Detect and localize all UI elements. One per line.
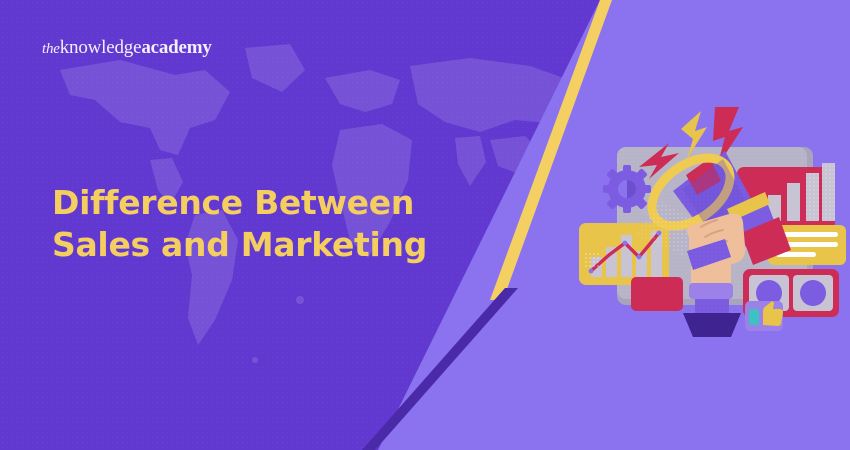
sales-and-marketing-illustration	[565, 105, 840, 340]
banner-canvas: theknowledgeacademy Difference Between S…	[0, 0, 850, 450]
gear-icon	[603, 165, 651, 213]
logo-prefix: the	[42, 41, 60, 57]
thumbs-up-icon	[745, 301, 783, 331]
red-card	[631, 277, 683, 311]
brand-logo[interactable]: theknowledgeacademy	[42, 38, 212, 57]
logo-word-academy: academy	[141, 37, 211, 58]
page-title: Difference Between Sales and Marketing	[52, 182, 492, 266]
logo-word-knowledge: knowledge	[60, 37, 142, 58]
